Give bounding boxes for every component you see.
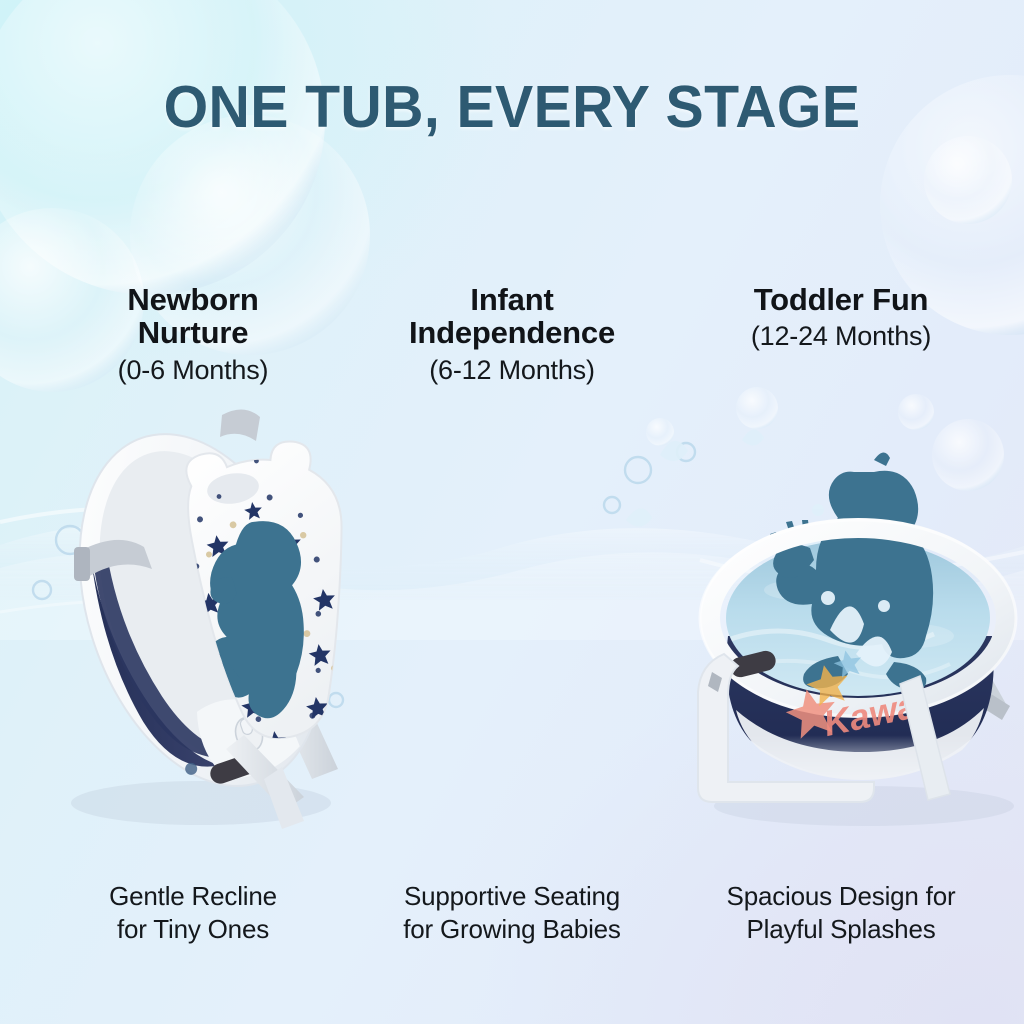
stage-age-toddler: (12-24 Months) bbox=[676, 321, 1006, 351]
stage-heading-newborn: Newborn Nurture (0-6 Months) bbox=[28, 283, 358, 385]
product-image-newborn-tub bbox=[36, 405, 366, 835]
stage-column-toddler: Toddler Fun (12-24 Months) bbox=[676, 0, 1006, 1024]
stage-caption-infant: Supportive Seating for Growing Babies bbox=[352, 880, 672, 947]
stage-caption-newborn: Gentle Recline for Tiny Ones bbox=[28, 880, 358, 947]
stage-age-newborn: (0-6 Months) bbox=[28, 355, 358, 385]
infographic-canvas: ONE TUB, EVERY STAGE Newborn Nurture (0-… bbox=[0, 0, 1024, 1024]
stage-column-infant: Infant Independence (6-12 Months) bbox=[352, 0, 672, 1024]
stage-age-infant: (6-12 Months) bbox=[352, 355, 672, 385]
stage-title-infant: Infant Independence bbox=[352, 283, 672, 350]
stage-title-newborn: Newborn Nurture bbox=[28, 283, 358, 350]
stage-heading-infant: Infant Independence (6-12 Months) bbox=[352, 283, 672, 385]
stage-caption-toddler: Spacious Design for Playful Splashes bbox=[676, 880, 1006, 947]
stage-columns: Newborn Nurture (0-6 Months) bbox=[0, 0, 1024, 1024]
stage-column-newborn: Newborn Nurture (0-6 Months) bbox=[28, 0, 358, 1024]
stage-heading-toddler: Toddler Fun (12-24 Months) bbox=[676, 283, 1006, 352]
stage-title-toddler: Toddler Fun bbox=[676, 283, 1006, 316]
